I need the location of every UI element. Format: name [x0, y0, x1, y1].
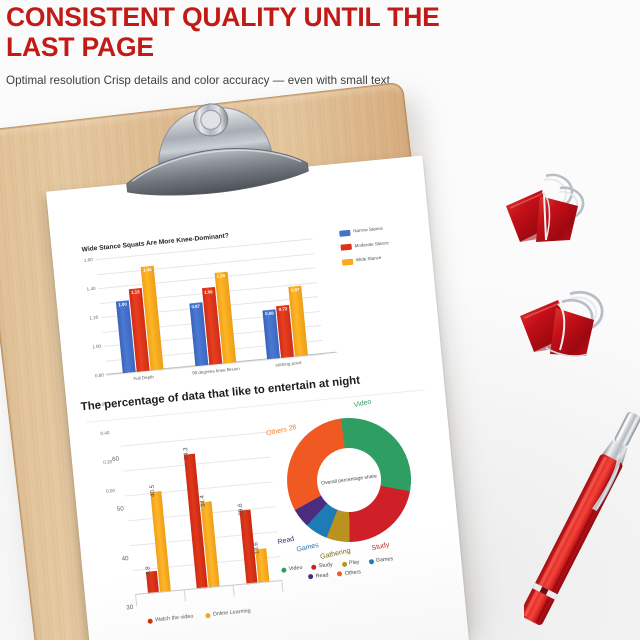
chart2-legend-dot	[205, 612, 210, 617]
chart-night-entertainment-block: The percentage of data that like to ente…	[74, 367, 460, 640]
chart1-legend-item: Moderate Stance	[340, 237, 414, 251]
chart1-y-tick-label: 0.80	[95, 373, 104, 379]
chart1-bar-value: 0.72	[276, 306, 289, 312]
chart2-bar-chart: 102030405060 8.840.554.334.429.613.6 Wat…	[99, 416, 284, 621]
chart1-legend-label: Narrow Stance	[353, 226, 383, 234]
chart2-x-tick	[184, 590, 186, 601]
donut-label-others: Others 28	[266, 424, 298, 437]
clipboard: Wide Stance Squats Are More Knee-Dominan…	[0, 77, 508, 640]
chart2-bar-pair: 29.613.6	[231, 421, 269, 584]
donut-legend-item: Others	[337, 569, 361, 577]
chart2-bar-pair: 8.840.5	[133, 430, 171, 593]
donut-legend: VideoStudyPlayGamesReadOthers	[281, 551, 446, 586]
chart2-bar-value: 34.4	[199, 495, 207, 508]
donut-legend-label: Video	[289, 565, 303, 572]
chart1-legend-swatch	[340, 244, 352, 251]
chart2-legend-item: Online Learning	[205, 608, 251, 618]
chart1-y-tick-label: 1.00	[92, 344, 101, 350]
chart1-category-label: Full Depth	[133, 374, 154, 381]
chart1-category-label: 90 degrees knee flexion	[192, 366, 240, 376]
donut-legend-dot	[308, 574, 313, 579]
chart2-legend: Watch the videoOnline Learning	[147, 608, 251, 624]
donut-legend-dot	[337, 571, 342, 576]
donut-legend-label: Study	[319, 562, 333, 569]
chart1-legend: Narrow StanceModerate StanceWide Stance	[339, 223, 417, 273]
printed-report-page: Wide Stance Squats Are More Knee-Dominan…	[46, 156, 472, 640]
chart2-bar-pair: 54.334.4	[182, 426, 220, 589]
red-ballpoint-pen[interactable]	[524, 398, 640, 640]
chart2-legend-dot	[147, 618, 152, 623]
chart2-y-tick-label: 60	[112, 455, 120, 463]
headline-line-2: last page	[6, 32, 606, 62]
donut-legend-label: Read	[315, 572, 328, 579]
chart1-bar-value: 1.06	[202, 289, 215, 295]
chart-knee-dominant: Wide Stance Squats Are More Knee-Dominan…	[64, 215, 429, 398]
product-marketing-scene: Consistent quality until the last page O…	[0, 0, 640, 640]
chart1-bar-groups: 1.001.151.44Full Depth0.871.061.2690 deg…	[96, 238, 324, 374]
donut-legend-item: Read	[308, 572, 329, 580]
chart2-bar-value: 8.8	[144, 566, 152, 575]
chart1-group: 1.001.151.44Full Depth	[96, 252, 179, 374]
chart1-category-label: sticking point	[275, 360, 301, 367]
chart1-bar-value: 1.00	[116, 301, 129, 307]
chart1-legend-swatch	[339, 229, 351, 236]
donut-legend-dot	[311, 564, 316, 569]
chart1-group: 0.871.061.2690 degrees knee flexion	[168, 245, 251, 367]
binder-clip-2[interactable]	[512, 276, 612, 372]
chart1-legend-item: Narrow Stance	[339, 223, 413, 237]
donut-label-gathering: Gathering	[320, 547, 352, 560]
chart2-legend-label: Online Learning	[213, 608, 251, 618]
chart1-bar-value: 1.44	[141, 267, 154, 273]
page-headline: Consistent quality until the last page	[6, 2, 606, 62]
chart2-bar-watch: 8.8	[146, 571, 159, 594]
donut-legend-item: Play	[341, 559, 359, 567]
chart2-legend-label: Watch the video	[155, 614, 194, 624]
donut-legend-dot	[341, 561, 346, 566]
chart2-x-tick	[135, 595, 137, 606]
chart1-y-tick-label: 1.60	[84, 257, 93, 263]
chart2-x-tick	[232, 586, 234, 597]
chart1-legend-item: Wide Stance	[342, 252, 416, 266]
chart1-y-tick-label: 1.40	[86, 286, 95, 292]
chart2-bars: 8.840.554.334.429.613.6	[120, 420, 283, 595]
chart2-bar-value: 54.3	[182, 447, 190, 460]
chart1-y-tick-label: 1.20	[89, 315, 98, 321]
donut-label-study: Study	[371, 541, 390, 552]
chart-donut-share: Overall percentage share Video Others 28…	[261, 386, 450, 611]
chart1-bar-value: 1.15	[129, 289, 142, 295]
donut-ring: Overall percentage share	[279, 410, 418, 549]
donut-legend-label: Others	[345, 569, 362, 577]
donut-legend-item: Video	[281, 565, 303, 573]
chart1-legend-label: Wide Stance	[356, 255, 382, 263]
chart1-bar-value: 0.87	[189, 304, 202, 310]
binder-clip-1[interactable]	[500, 168, 596, 260]
donut-legend-item: Games	[368, 556, 393, 564]
headline-line-1: Consistent quality until the	[6, 2, 606, 32]
donut-label-read: Read	[277, 536, 295, 546]
chart2-y-tick-label: 30	[126, 604, 134, 612]
chart1-bar-value: 1.26	[214, 273, 227, 279]
donut-legend-dot	[368, 559, 373, 564]
chart2-bar-online: 13.6	[255, 548, 269, 583]
chart2-bar-value: 13.6	[253, 542, 261, 555]
donut-label-games: Games	[296, 542, 320, 554]
donut-label-video: Video	[353, 399, 372, 410]
donut-legend-label: Games	[376, 556, 394, 564]
donut-legend-label: Play	[349, 559, 360, 566]
chart2-bar-value: 29.6	[237, 503, 245, 516]
header: Consistent quality until the last page O…	[6, 0, 606, 88]
donut-hole: Overall percentage share	[313, 444, 385, 516]
chart2-legend-item: Watch the video	[147, 614, 193, 624]
chart1-legend-swatch	[342, 258, 354, 265]
chart1-group: 0.680.720.97sticking point	[240, 238, 323, 360]
chart1-plot-area: 0.000.200.400.600.801.001.201.401.60 1.0…	[96, 238, 324, 374]
chart2-bar-value: 40.5	[148, 485, 156, 498]
donut-legend-item: Study	[311, 562, 333, 570]
chart2-y-tick-label: 50	[117, 505, 125, 513]
chart2-plot-area: 102030405060 8.840.554.334.429.613.6	[120, 420, 283, 595]
chart2-y-tick-label: 40	[121, 555, 129, 563]
chart1-bar-value: 0.68	[263, 310, 276, 316]
donut-center-label: Overall percentage share	[321, 473, 377, 486]
chart1-legend-label: Moderate Stance	[354, 240, 389, 249]
chart1-bar-value: 0.97	[289, 287, 302, 293]
donut-legend-dot	[281, 567, 286, 572]
